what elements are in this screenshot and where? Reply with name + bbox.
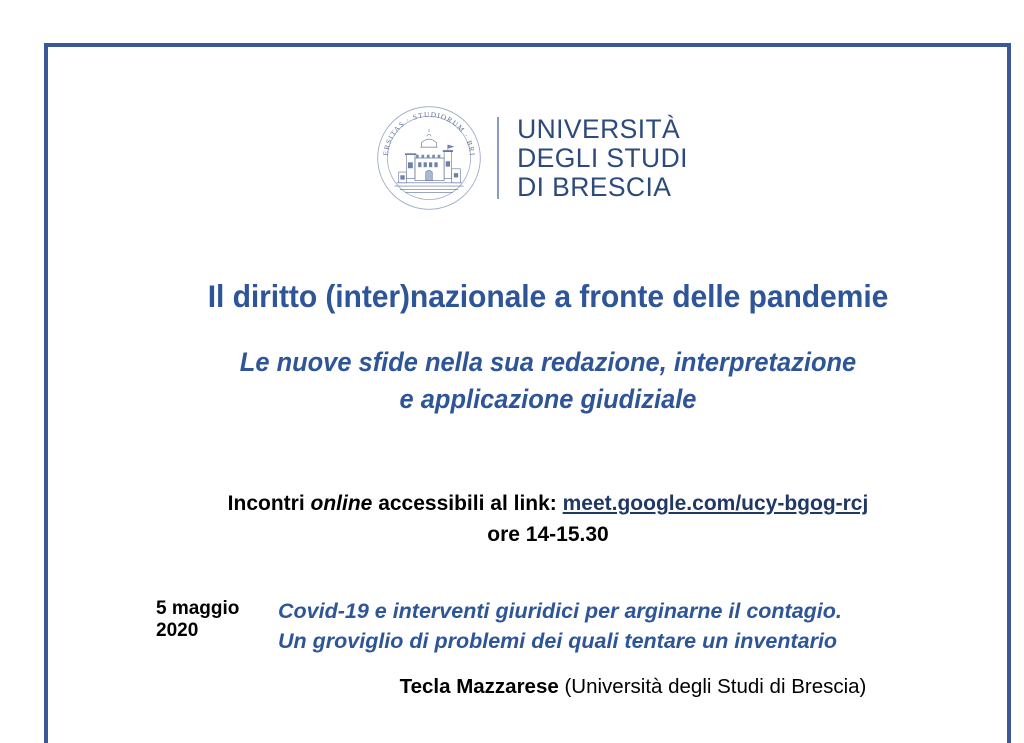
entry-date: 5 maggio 2020 [108, 596, 278, 642]
access-middle: accessibili al link: [372, 492, 562, 515]
entry-talk-title-line-1: Covid-19 e interventi giuridici per argi… [278, 596, 988, 626]
access-info: Incontri online accessibili al link: mee… [108, 488, 988, 550]
logo-wordmark: UNIVERSITÀ DEGLI STUDI DI BRESCIA [517, 115, 688, 202]
logo-line-3: DI BRESCIA [517, 173, 688, 202]
logo-line-1: UNIVERSITÀ [517, 115, 688, 144]
entry-talk-title-line-2: Un groviglio di problemi dei quali tenta… [278, 626, 988, 656]
list-item: 5 maggio 2020 Covid-19 e interventi giur… [108, 596, 988, 699]
subtitle-line-2: e applicazione giudiziale [126, 381, 971, 418]
access-time: ore 14-15.30 [108, 519, 988, 550]
access-link-line: Incontri online accessibili al link: mee… [108, 488, 988, 519]
access-emphasis: online [311, 492, 373, 515]
access-prefix: Incontri [228, 492, 311, 515]
entry-speaker-affiliation: (Università degli Studi di Brescia) [559, 675, 867, 698]
entry-body: Covid-19 e interventi giuridici per argi… [278, 596, 988, 699]
university-seal-icon: UNIVERSITAS · STUDIORUM · BRIXIAE [375, 104, 483, 212]
schedule-list: 5 maggio 2020 Covid-19 e interventi giur… [108, 596, 988, 699]
page-title: Il diritto (inter)nazionale a fronte del… [128, 278, 968, 315]
poster-border-frame: UNIVERSITAS · STUDIORUM · BRIXIAE [44, 43, 1011, 743]
svg-text:UNIVERSITAS · STUDIORUM · BRIX: UNIVERSITAS · STUDIORUM · BRIXIAE [375, 104, 476, 157]
page-subtitle: Le nuove sfide nella sua redazione, inte… [126, 344, 971, 418]
entry-speaker: Tecla Mazzarese (Università degli Studi … [278, 675, 988, 699]
logo-line-2: DEGLI STUDI [517, 144, 688, 173]
university-logo: UNIVERSITAS · STUDIORUM · BRIXIAE [48, 104, 1015, 212]
poster-page: UNIVERSITAS · STUDIORUM · BRIXIAE [0, 0, 1024, 730]
entry-speaker-name: Tecla Mazzarese [400, 675, 559, 698]
entry-talk-title: Covid-19 e interventi giuridici per argi… [278, 596, 988, 656]
logo-divider [497, 117, 499, 199]
meeting-link[interactable]: meet.google.com/ucy-bgog-rcj [563, 492, 869, 515]
subtitle-line-1: Le nuove sfide nella sua redazione, inte… [126, 344, 971, 381]
